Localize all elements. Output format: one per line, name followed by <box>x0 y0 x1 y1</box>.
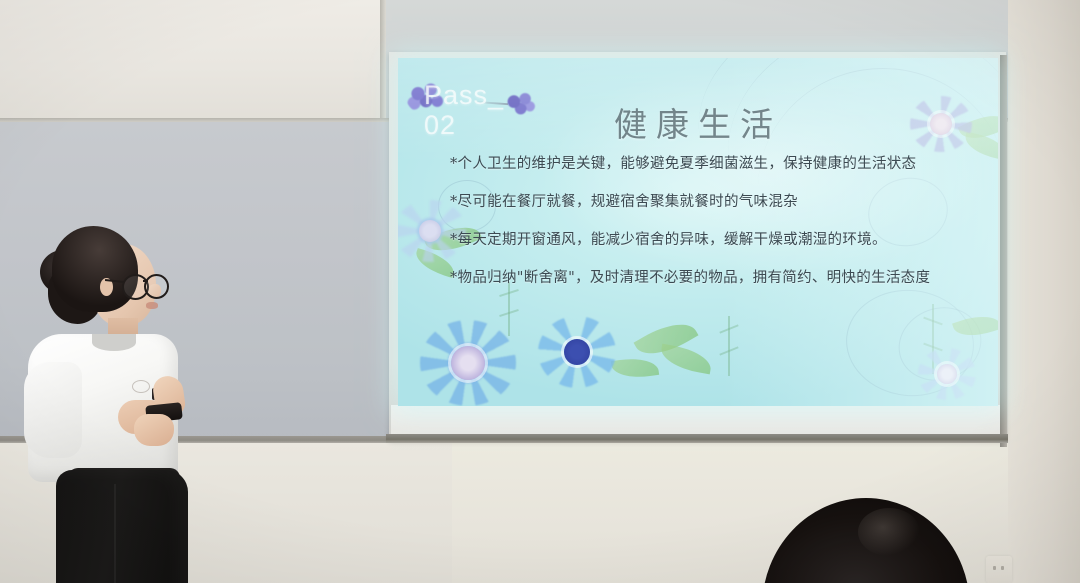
presenter-lips <box>146 302 158 309</box>
presenter-shirt-collar <box>92 334 136 351</box>
outline-flower-watermark <box>888 296 992 392</box>
presenter-skirt-fold <box>114 484 116 583</box>
presenter <box>22 222 237 583</box>
wall-power-outlet[interactable] <box>986 556 1012 583</box>
slide-bullet: *每天定期开窗通风，能减少宿舍的异味，缓解干燥或潮湿的环境。 <box>450 230 956 251</box>
fern-shape <box>728 316 730 376</box>
projection-screen-right-edge <box>1000 55 1007 447</box>
presenter-skirt <box>56 470 188 583</box>
blue-daisy-icon <box>420 320 516 406</box>
presenter-hair <box>52 226 138 312</box>
presentation-slide[interactable]: Pass_ 02 健康生活 *个人卫生的维护是关键，能够避免夏季细菌滋生，保持健… <box>398 58 998 406</box>
right-side-wall <box>1008 0 1080 583</box>
outlet-slot <box>993 566 996 570</box>
slide-title: 健康生活 <box>398 98 998 146</box>
eyeglasses-bridge <box>143 280 148 282</box>
presenter-hand-lower <box>134 414 174 446</box>
fern-shape <box>932 304 934 374</box>
leaf-shape <box>952 309 998 342</box>
slide-bullet: *尽可能在餐厅就餐，规避宿舍聚集就餐时的气味混杂 <box>450 192 956 213</box>
audience-hair-highlight <box>858 508 920 556</box>
blue-daisy-icon <box>538 316 616 388</box>
projection-screen-blank-area <box>391 405 1004 435</box>
wall-corner-edge <box>380 0 386 122</box>
slide-body: *个人卫生的维护是关键，能够避免夏季细菌滋生，保持健康的生活状态 *尽可能在餐厅… <box>450 154 956 306</box>
eyeglasses-lens-right <box>144 274 169 299</box>
presenter-shirt-sleeve <box>24 362 82 458</box>
projection-screen-bottom-bar <box>386 434 1008 443</box>
shirt-logo-icon <box>132 380 150 393</box>
slide-bullet: *物品归纳"断舍离"，及时清理不必要的物品，拥有简约、明快的生活态度 <box>450 268 956 289</box>
leaf-shape <box>611 355 659 381</box>
outlet-slot <box>1001 566 1004 570</box>
pale-daisy-icon <box>918 348 976 400</box>
slide-bullet: *个人卫生的维护是关键，能够避免夏季细菌滋生，保持健康的生活状态 <box>450 154 956 175</box>
leaf-shape <box>634 313 699 366</box>
classroom-presentation-photo: Pass_ 02 健康生活 *个人卫生的维护是关键，能够避免夏季细菌滋生，保持健… <box>0 0 1080 583</box>
leaf-shape <box>658 344 713 375</box>
